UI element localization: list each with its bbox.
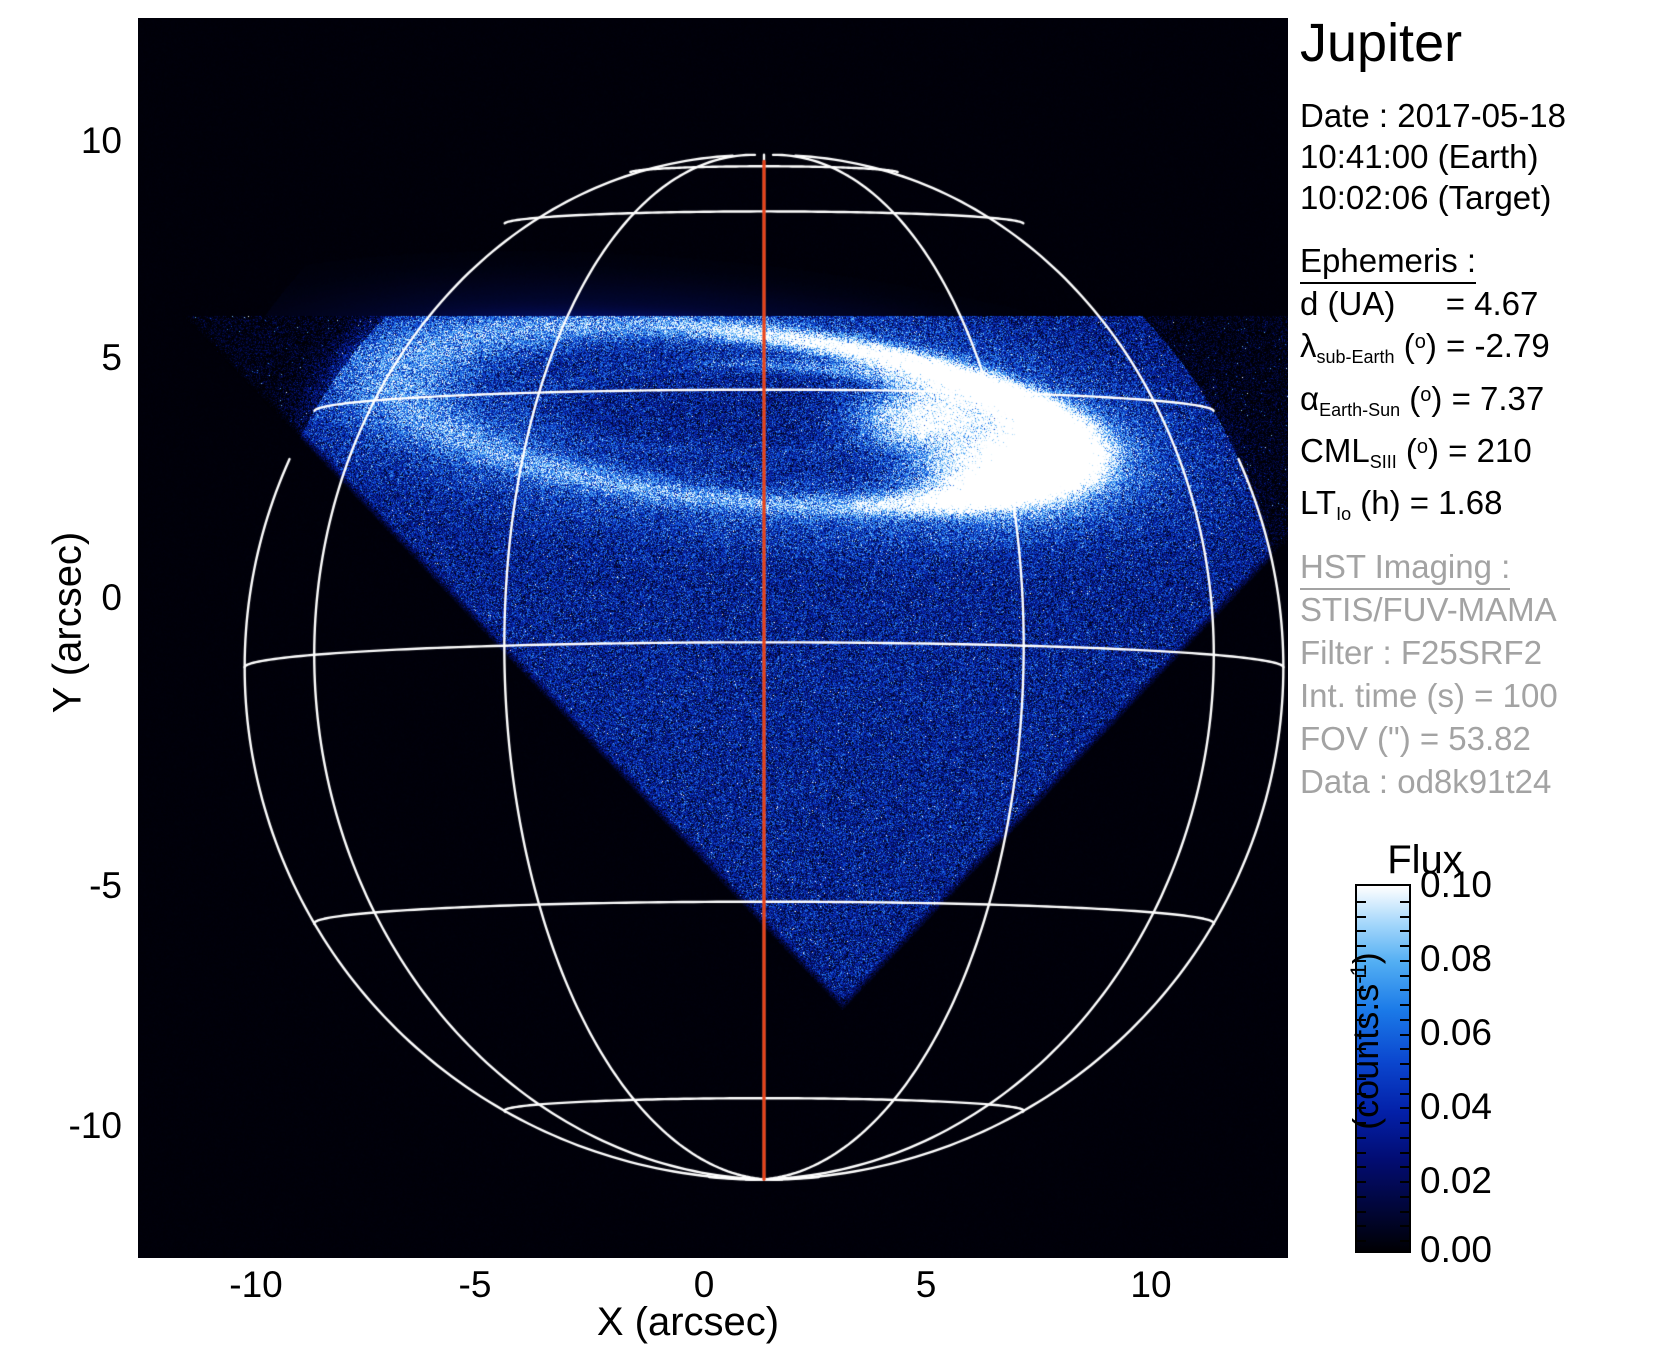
observation-time-target: 10:02:06 (Target) (1300, 179, 1551, 217)
colorbar-minor-tick (1400, 960, 1409, 962)
ephemeris-unit: (o) (1406, 432, 1439, 469)
colorbar-unit-prefix: (counts.s (1345, 984, 1386, 1130)
colorbar-minor-tick (1400, 901, 1409, 903)
ephemeris-label: LT (1300, 484, 1336, 521)
x-tick-label: 10 (1101, 1266, 1201, 1303)
colorbar-tick-label: 0.00 (1420, 1231, 1492, 1268)
instrument-detector: STIS/FUV-MAMA (1300, 591, 1557, 629)
ephemeris-value: = 4.67 (1446, 285, 1539, 322)
x-axis-label: X (arcsec) (538, 1300, 838, 1345)
colorbar-minor-tick (1400, 1063, 1409, 1065)
colorbar-minor-tick (1400, 1166, 1409, 1168)
ephemeris-heading-text: Ephemeris : (1300, 242, 1476, 284)
colorbar-minor-tick (1400, 1196, 1409, 1198)
instrument-integration-time: Int. time (s) = 100 (1300, 677, 1558, 715)
colorbar-minor-tick (1400, 1048, 1409, 1050)
colorbar-minor-tick (1400, 930, 1409, 932)
ephemeris-subscript: sub-Earth (1317, 347, 1395, 367)
colorbar-minor-tick (1400, 916, 1409, 918)
ephemeris-value: = 7.37 (1452, 380, 1545, 417)
ephemeris-unit: (o) (1409, 380, 1442, 417)
colorbar-minor-tick (1400, 945, 1409, 947)
colorbar-minor-tick (1357, 1225, 1366, 1227)
instrument-heading: HST Imaging : (1300, 548, 1510, 586)
colorbar-unit-suffix: ) (1345, 952, 1386, 964)
ephemeris-label: λ (1300, 327, 1317, 364)
ephemeris-value: = -2.79 (1446, 327, 1550, 364)
ephemeris-unit: (black-blue-whiteo) (1404, 327, 1437, 364)
colorbar-minor-tick (1400, 1004, 1409, 1006)
colorbar-minor-tick (1357, 1196, 1366, 1198)
colorbar-minor-tick (1400, 1093, 1409, 1095)
ephemeris-heading: Ephemeris : (1300, 242, 1476, 280)
instrument-filter: Filter : F25SRF2 (1300, 634, 1542, 672)
ephemeris-label: CML (1300, 432, 1370, 469)
colorbar-minor-tick (1400, 1152, 1409, 1154)
colorbar-minor-tick (1400, 1107, 1409, 1109)
colorbar-minor-tick (1357, 1240, 1366, 1242)
colorbar-tick-label: 0.08 (1420, 940, 1492, 977)
colorbar-minor-tick (1400, 1019, 1409, 1021)
ephemeris-label: α (1300, 380, 1319, 417)
ephemeris-unit: (h) (1360, 484, 1400, 521)
ephemeris-value: = 1.68 (1410, 484, 1503, 521)
aurora-image-panel (138, 18, 1288, 1258)
x-tick-label: -10 (206, 1266, 306, 1303)
colorbar-tick-label: 0.04 (1420, 1088, 1492, 1125)
observation-time-earth: 10:41:00 (Earth) (1300, 138, 1538, 176)
colorbar-minor-tick (1400, 1137, 1409, 1139)
x-tick-label: 5 (876, 1266, 976, 1303)
ephemeris-subscript: SIII (1370, 452, 1397, 472)
colorbar-minor-tick (1400, 975, 1409, 977)
y-tick-label: 10 (60, 122, 122, 159)
colorbar-minor-tick (1400, 1078, 1409, 1080)
colorbar-minor-tick (1357, 1211, 1366, 1213)
colorbar-tick-label: 0.02 (1420, 1162, 1492, 1199)
ephemeris-label: d (UA) (1300, 285, 1395, 322)
colorbar-tick-label: 0.10 (1420, 866, 1492, 903)
ephemeris-row-sub-earth-lat: λsub-Earth (black-blue-whiteo) = -2.79 (1300, 327, 1550, 370)
metadata-panel: Jupiter Date : 2017-05-18 10:41:00 (Eart… (1300, 0, 1676, 1367)
ephemeris-subscript: Earth-Sun (1319, 400, 1400, 420)
page-title: Jupiter (1300, 14, 1462, 72)
colorbar-unit-label: (counts.s-1) (1345, 891, 1387, 1191)
instrument-fov: FOV (") = 53.82 (1300, 720, 1531, 758)
y-tick-label: -5 (45, 867, 122, 904)
y-tick-label: 5 (60, 339, 122, 376)
ephemeris-row-io-local-time: LTIo (h) = 1.68 (1300, 484, 1502, 527)
colorbar-minor-tick (1400, 1240, 1409, 1242)
observation-date: Date : 2017-05-18 (1300, 97, 1566, 135)
colorbar-minor-tick (1400, 989, 1409, 991)
x-tick-label: 0 (654, 1266, 754, 1303)
ephemeris-value: = 210 (1448, 432, 1532, 469)
colorbar-tick-label: 0.06 (1420, 1014, 1492, 1051)
ephemeris-row-distance: d (UA) = 4.67 (1300, 285, 1538, 323)
ephemeris-row-phase-angle: αEarth-Sun (o) = 7.37 (1300, 380, 1544, 423)
jupiter-aurora-heatmap (138, 18, 1288, 1258)
colorbar-unit-exponent: -1 (1346, 964, 1371, 984)
x-tick-label: -5 (425, 1266, 525, 1303)
y-axis-label: Y (arcsec) (46, 493, 91, 753)
colorbar-minor-tick (1400, 1181, 1409, 1183)
ephemeris-row-cml: CMLSIII (o) = 210 (1300, 432, 1532, 475)
colorbar-minor-tick (1400, 1225, 1409, 1227)
instrument-heading-text: HST Imaging : (1300, 548, 1510, 590)
colorbar-minor-tick (1400, 1034, 1409, 1036)
colorbar-minor-tick (1400, 1122, 1409, 1124)
y-tick-label: -10 (28, 1107, 122, 1144)
instrument-dataset-id: Data : od8k91t24 (1300, 763, 1551, 801)
colorbar-minor-tick (1400, 1211, 1409, 1213)
ephemeris-subscript: Io (1336, 504, 1351, 524)
